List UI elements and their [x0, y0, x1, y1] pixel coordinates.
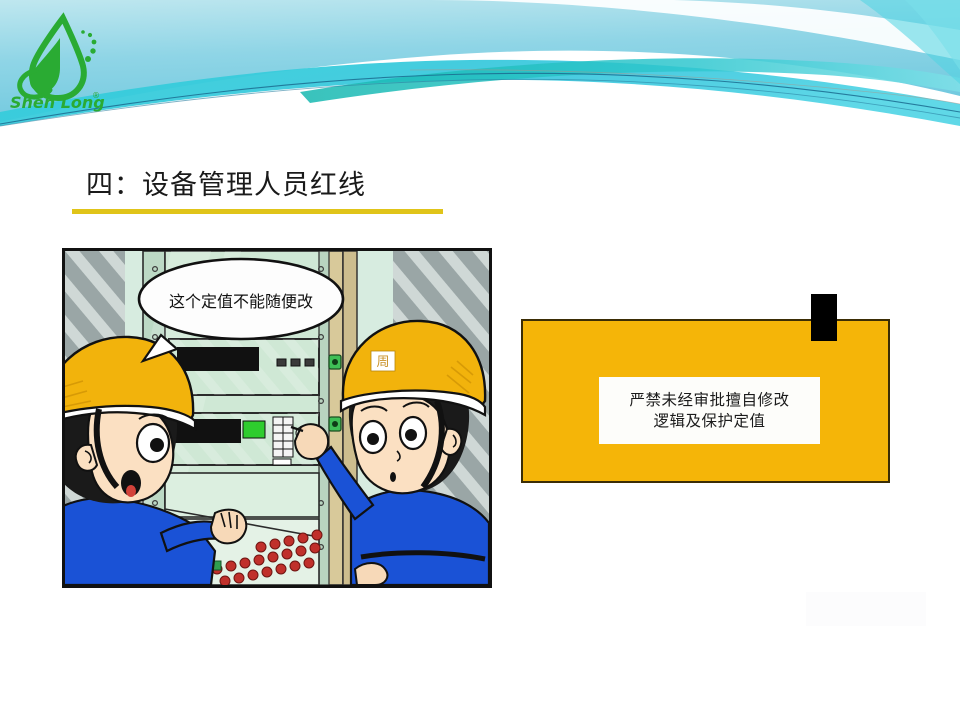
speech-bubble-text: 这个定值不能随便改	[169, 292, 313, 311]
callout-text: 严禁未经审批擅自修改 逻辑及保护定值	[629, 390, 789, 431]
page-title: 四：设备管理人员红线	[86, 163, 366, 202]
decorative-wave-banner	[0, 0, 960, 128]
callout-black-tab	[811, 294, 837, 341]
corner-watermark	[806, 592, 926, 626]
callout-line-2: 逻辑及保护定值	[653, 412, 765, 430]
substation-relay-panel-illustration: 周 这个定值不能	[62, 248, 492, 588]
helmet-name-label: 周	[376, 355, 389, 370]
logo-wordmark: Shen Long	[10, 93, 105, 112]
callout-line-1: 严禁未经审批擅自修改	[629, 391, 789, 409]
callout-inner-panel: 严禁未经审批擅自修改 逻辑及保护定值	[599, 377, 820, 444]
title-underline-rule	[72, 209, 443, 214]
shen-long-waterdrop-logo: Shen Long ®	[6, 12, 116, 112]
presentation-slide: Shen Long ® 四：设备管理人员红线	[0, 0, 960, 720]
registered-trademark-symbol: ®	[92, 91, 100, 100]
